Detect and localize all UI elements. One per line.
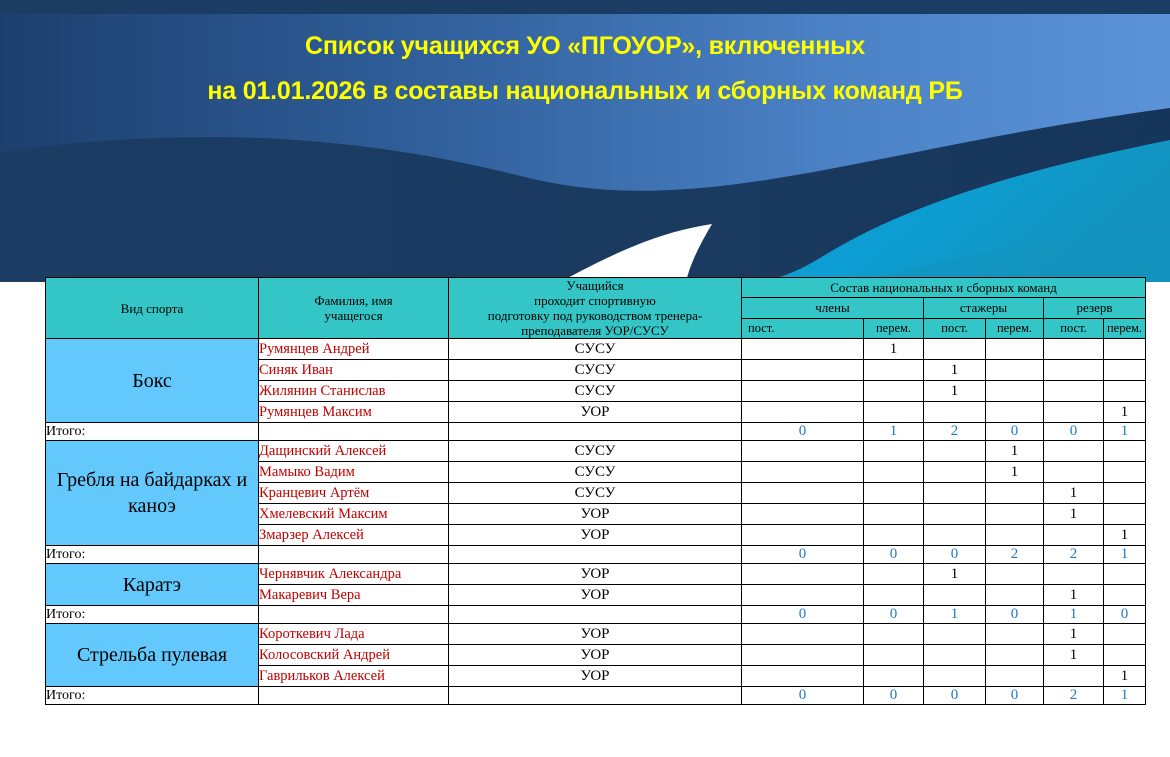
count-cell bbox=[1044, 564, 1104, 585]
totals-value: 0 bbox=[986, 423, 1044, 441]
count-cell: 1 bbox=[986, 441, 1044, 462]
athlete-name-cell: Румянцев Андрей bbox=[259, 339, 449, 360]
count-cell bbox=[864, 585, 924, 606]
count-cell bbox=[1044, 525, 1104, 546]
count-cell bbox=[1044, 360, 1104, 381]
count-cell bbox=[986, 483, 1044, 504]
totals-value: 1 bbox=[1104, 423, 1146, 441]
count-cell bbox=[864, 504, 924, 525]
totals-blank-institution bbox=[449, 546, 742, 564]
count-cell bbox=[986, 564, 1044, 585]
count-cell: 1 bbox=[1104, 525, 1146, 546]
roster-table: Вид спорта Фамилия, имя учащегося Учащий… bbox=[45, 277, 1146, 705]
totals-value: 0 bbox=[1104, 606, 1146, 624]
header-training-line3: подготовку под руководством тренера- bbox=[449, 308, 741, 323]
count-cell: 1 bbox=[864, 339, 924, 360]
count-cell bbox=[742, 483, 864, 504]
header-teams-group: Состав национальных и сборных команд bbox=[742, 278, 1146, 298]
header-athlete-line2: учащегося bbox=[259, 308, 448, 323]
totals-value: 2 bbox=[924, 423, 986, 441]
training-institution-cell: УОР bbox=[449, 564, 742, 585]
count-cell: 1 bbox=[924, 564, 986, 585]
sport-cell: Каратэ bbox=[46, 564, 259, 606]
training-institution-cell: СУСУ bbox=[449, 339, 742, 360]
header-row-1: Вид спорта Фамилия, имя учащегося Учащий… bbox=[46, 278, 1146, 298]
count-cell bbox=[864, 381, 924, 402]
count-cell bbox=[986, 525, 1044, 546]
count-cell bbox=[742, 504, 864, 525]
count-cell bbox=[986, 381, 1044, 402]
training-institution-cell: УОР bbox=[449, 645, 742, 666]
athlete-name-cell: Чернявчик Александра bbox=[259, 564, 449, 585]
totals-value: 0 bbox=[924, 546, 986, 564]
count-cell bbox=[1104, 462, 1146, 483]
totals-value: 0 bbox=[742, 546, 864, 564]
count-cell bbox=[924, 666, 986, 687]
count-cell bbox=[742, 585, 864, 606]
table-row: Гребля на байдарках и каноэДащинский Але… bbox=[46, 441, 1146, 462]
totals-label: Итого: bbox=[46, 606, 259, 624]
header-sport: Вид спорта bbox=[46, 278, 259, 339]
count-cell bbox=[924, 504, 986, 525]
count-cell bbox=[986, 360, 1044, 381]
totals-row: Итого:000221 bbox=[46, 546, 1146, 564]
totals-value: 0 bbox=[986, 687, 1044, 705]
header-members-post: пост. bbox=[742, 318, 864, 338]
count-cell bbox=[742, 402, 864, 423]
table-head: Вид спорта Фамилия, имя учащегося Учащий… bbox=[46, 278, 1146, 339]
count-cell bbox=[924, 462, 986, 483]
count-cell bbox=[924, 585, 986, 606]
totals-blank-name bbox=[259, 546, 449, 564]
count-cell bbox=[986, 339, 1044, 360]
count-cell: 1 bbox=[1044, 624, 1104, 645]
count-cell bbox=[1104, 483, 1146, 504]
totals-label: Итого: bbox=[46, 423, 259, 441]
totals-value: 1 bbox=[864, 423, 924, 441]
table-row: КаратэЧернявчик АлександраУОР1 bbox=[46, 564, 1146, 585]
count-cell bbox=[742, 624, 864, 645]
count-cell bbox=[1104, 564, 1146, 585]
count-cell bbox=[924, 645, 986, 666]
header-members: члены bbox=[742, 298, 924, 318]
roster-table-container: Вид спорта Фамилия, имя учащегося Учащий… bbox=[45, 277, 1145, 705]
totals-value: 0 bbox=[742, 606, 864, 624]
training-institution-cell: СУСУ bbox=[449, 381, 742, 402]
totals-label: Итого: bbox=[46, 546, 259, 564]
count-cell bbox=[986, 585, 1044, 606]
count-cell bbox=[1044, 402, 1104, 423]
totals-value: 0 bbox=[742, 423, 864, 441]
athlete-name-cell: Кранцевич Артём bbox=[259, 483, 449, 504]
training-institution-cell: СУСУ bbox=[449, 483, 742, 504]
count-cell bbox=[864, 402, 924, 423]
header-athlete-line1: Фамилия, имя bbox=[259, 293, 448, 308]
athlete-name-cell: Дащинский Алексей bbox=[259, 441, 449, 462]
count-cell bbox=[742, 564, 864, 585]
totals-value: 0 bbox=[986, 606, 1044, 624]
sport-cell: Гребля на байдарках и каноэ bbox=[46, 441, 259, 546]
athlete-name-cell: Колосовский Андрей bbox=[259, 645, 449, 666]
athlete-name-cell: Жилянин Станислав bbox=[259, 381, 449, 402]
totals-value: 0 bbox=[864, 687, 924, 705]
count-cell bbox=[1044, 666, 1104, 687]
count-cell bbox=[1104, 645, 1146, 666]
athlete-name-cell: Короткевич Лада bbox=[259, 624, 449, 645]
count-cell bbox=[864, 666, 924, 687]
header-trainees-post: пост. bbox=[924, 318, 986, 338]
totals-value: 2 bbox=[1044, 687, 1104, 705]
count-cell: 1 bbox=[1104, 666, 1146, 687]
count-cell bbox=[986, 645, 1044, 666]
sport-cell: Бокс bbox=[46, 339, 259, 423]
count-cell bbox=[1104, 360, 1146, 381]
header-members-perem: перем. bbox=[864, 318, 924, 338]
training-institution-cell: УОР bbox=[449, 585, 742, 606]
training-institution-cell: УОР bbox=[449, 624, 742, 645]
totals-value: 1 bbox=[924, 606, 986, 624]
count-cell bbox=[864, 360, 924, 381]
header-reserve-perem: перем. bbox=[1104, 318, 1146, 338]
count-cell bbox=[864, 462, 924, 483]
totals-row: Итого:000021 bbox=[46, 687, 1146, 705]
count-cell bbox=[742, 360, 864, 381]
count-cell bbox=[742, 339, 864, 360]
count-cell: 1 bbox=[1104, 402, 1146, 423]
totals-value: 0 bbox=[1044, 423, 1104, 441]
header-training-line2: проходит спортивную bbox=[449, 293, 741, 308]
totals-blank-name bbox=[259, 687, 449, 705]
training-institution-cell: УОР bbox=[449, 525, 742, 546]
header-athlete: Фамилия, имя учащегося bbox=[259, 278, 449, 339]
count-cell: 1 bbox=[1044, 645, 1104, 666]
count-cell bbox=[742, 381, 864, 402]
sport-cell: Стрельба пулевая bbox=[46, 624, 259, 687]
table-row: БоксРумянцев АндрейСУСУ1 bbox=[46, 339, 1146, 360]
banner-graphic bbox=[0, 0, 1170, 282]
banner-top-strip bbox=[0, 0, 1170, 14]
totals-value: 1 bbox=[1044, 606, 1104, 624]
count-cell bbox=[1044, 339, 1104, 360]
totals-value: 1 bbox=[1104, 546, 1146, 564]
count-cell: 1 bbox=[1044, 483, 1104, 504]
page-banner: Список учащихся УО «ПГОУОР», включенных … bbox=[0, 0, 1170, 282]
count-cell bbox=[924, 624, 986, 645]
athlete-name-cell: Хмелевский Максим bbox=[259, 504, 449, 525]
training-institution-cell: УОР bbox=[449, 504, 742, 525]
table-body: БоксРумянцев АндрейСУСУ1Синяк ИванСУСУ1Ж… bbox=[46, 339, 1146, 705]
count-cell bbox=[924, 483, 986, 504]
count-cell bbox=[864, 525, 924, 546]
count-cell bbox=[1104, 381, 1146, 402]
count-cell bbox=[924, 525, 986, 546]
count-cell bbox=[1104, 624, 1146, 645]
training-institution-cell: СУСУ bbox=[449, 441, 742, 462]
count-cell bbox=[1104, 339, 1146, 360]
count-cell bbox=[1044, 381, 1104, 402]
totals-value: 0 bbox=[864, 606, 924, 624]
header-training-line4: преподавателя УОР/СУСУ bbox=[449, 323, 741, 338]
totals-row: Итого:001010 bbox=[46, 606, 1146, 624]
header-trainees-perem: перем. bbox=[986, 318, 1044, 338]
count-cell bbox=[864, 483, 924, 504]
header-training-line1: Учащийся bbox=[449, 278, 741, 293]
count-cell bbox=[986, 402, 1044, 423]
training-institution-cell: УОР bbox=[449, 402, 742, 423]
count-cell bbox=[864, 564, 924, 585]
training-institution-cell: СУСУ bbox=[449, 360, 742, 381]
totals-blank-institution bbox=[449, 423, 742, 441]
athlete-name-cell: Мамыко Вадим bbox=[259, 462, 449, 483]
totals-label: Итого: bbox=[46, 687, 259, 705]
count-cell: 1 bbox=[986, 462, 1044, 483]
count-cell: 1 bbox=[1044, 585, 1104, 606]
count-cell bbox=[742, 666, 864, 687]
athlete-name-cell: Синяк Иван bbox=[259, 360, 449, 381]
count-cell bbox=[986, 504, 1044, 525]
header-reserve-post: пост. bbox=[1044, 318, 1104, 338]
header-trainees: стажеры bbox=[924, 298, 1044, 318]
training-institution-cell: УОР bbox=[449, 666, 742, 687]
athlete-name-cell: Гаврильков Алексей bbox=[259, 666, 449, 687]
totals-value: 0 bbox=[864, 546, 924, 564]
count-cell bbox=[1044, 441, 1104, 462]
count-cell bbox=[924, 441, 986, 462]
totals-value: 2 bbox=[1044, 546, 1104, 564]
count-cell: 1 bbox=[1044, 504, 1104, 525]
totals-value: 2 bbox=[986, 546, 1044, 564]
table-row: Стрельба пулеваяКороткевич ЛадаУОР1 bbox=[46, 624, 1146, 645]
athlete-name-cell: Змарзер Алексей bbox=[259, 525, 449, 546]
header-reserve: резерв bbox=[1044, 298, 1146, 318]
count-cell bbox=[742, 525, 864, 546]
totals-blank-institution bbox=[449, 687, 742, 705]
header-training: Учащийся проходит спортивную подготовку … bbox=[449, 278, 742, 339]
count-cell bbox=[742, 441, 864, 462]
count-cell bbox=[986, 666, 1044, 687]
count-cell bbox=[924, 339, 986, 360]
totals-blank-name bbox=[259, 423, 449, 441]
count-cell bbox=[864, 624, 924, 645]
totals-value: 0 bbox=[924, 687, 986, 705]
count-cell bbox=[1044, 462, 1104, 483]
count-cell bbox=[1104, 585, 1146, 606]
count-cell: 1 bbox=[924, 381, 986, 402]
count-cell bbox=[864, 645, 924, 666]
training-institution-cell: СУСУ bbox=[449, 462, 742, 483]
count-cell bbox=[1104, 504, 1146, 525]
count-cell bbox=[864, 441, 924, 462]
totals-value: 1 bbox=[1104, 687, 1146, 705]
totals-row: Итого:012001 bbox=[46, 423, 1146, 441]
count-cell bbox=[986, 624, 1044, 645]
totals-blank-institution bbox=[449, 606, 742, 624]
athlete-name-cell: Макаревич Вера bbox=[259, 585, 449, 606]
count-cell bbox=[1104, 441, 1146, 462]
count-cell bbox=[742, 645, 864, 666]
count-cell: 1 bbox=[924, 360, 986, 381]
count-cell bbox=[924, 402, 986, 423]
totals-value: 0 bbox=[742, 687, 864, 705]
athlete-name-cell: Румянцев Максим bbox=[259, 402, 449, 423]
count-cell bbox=[742, 462, 864, 483]
totals-blank-name bbox=[259, 606, 449, 624]
